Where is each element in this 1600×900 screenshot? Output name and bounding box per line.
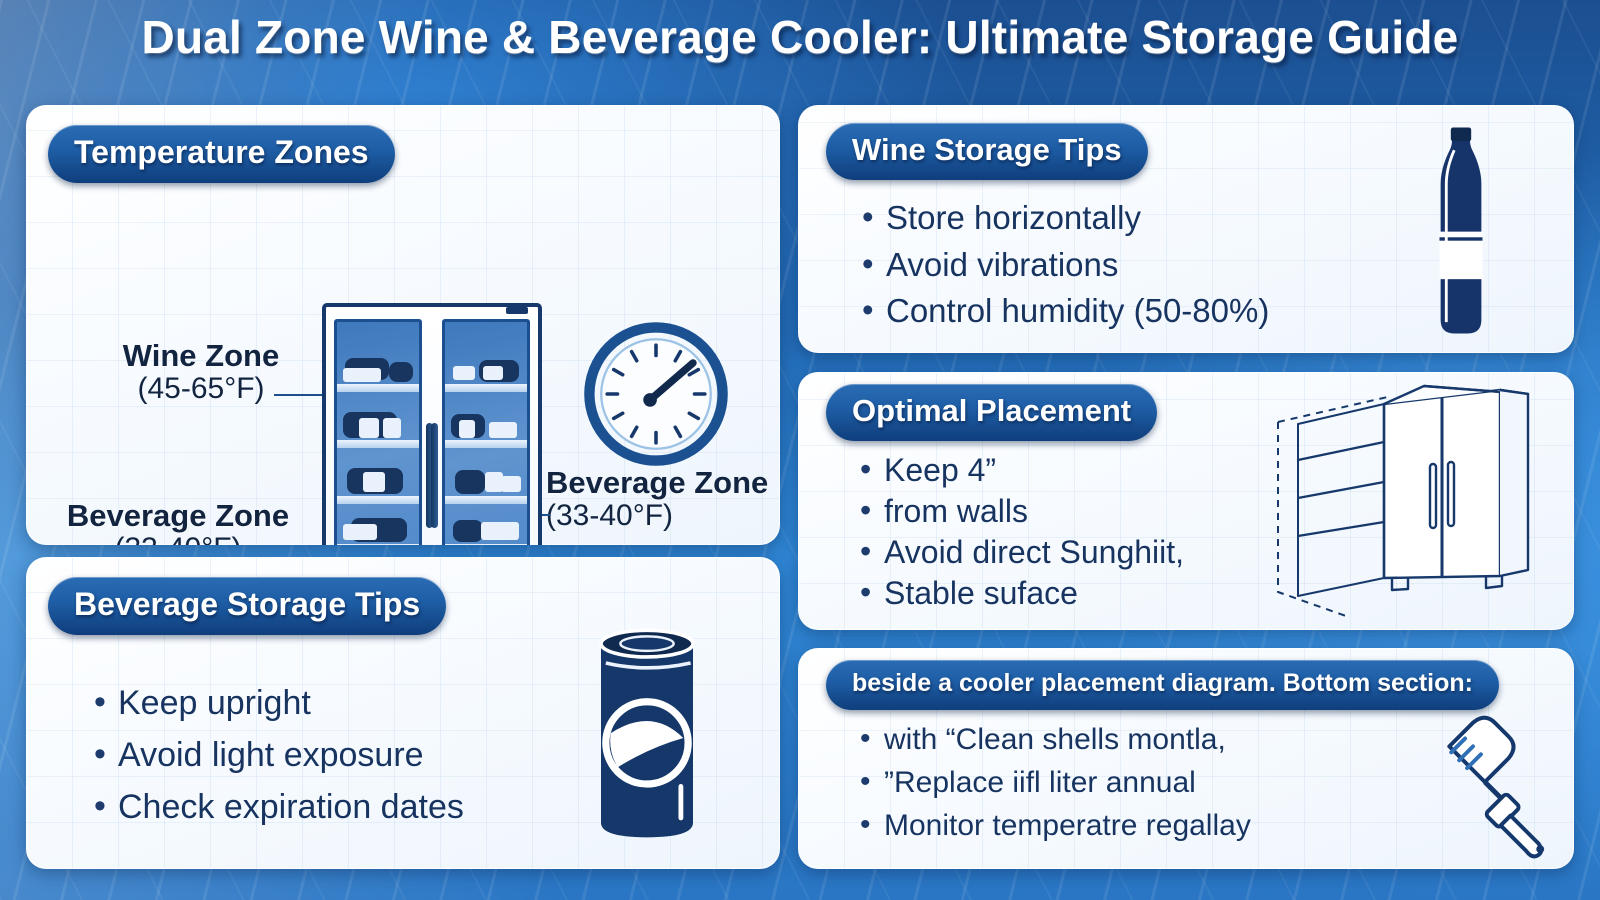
list-optimal-placement: Keep 4” from walls Avoid direct Sunghiit… <box>854 450 1184 614</box>
beverage-zone-range: (33-40°F) <box>38 533 318 545</box>
list-item: with “Clean shells montla, <box>854 718 1251 761</box>
heading-beverage-storage-tips: Beverage Storage Tips <box>48 577 446 635</box>
refrigerator-diagram-icon <box>1264 380 1554 625</box>
list-maintenance: with “Clean shells montla, ”Replace iifl… <box>854 718 1251 848</box>
beverage-zone-right-name: Beverage Zone <box>546 467 780 500</box>
heading-wine-storage-tips: Wine Storage Tips <box>826 123 1148 180</box>
list-item: Avoid vibrations <box>856 242 1269 289</box>
card-maintenance: beside a cooler placement diagram. Botto… <box>798 648 1574 869</box>
card-wine-storage-tips: Wine Storage Tips Store horizontally Avo… <box>798 105 1574 353</box>
list-item: Store horizontally <box>856 195 1269 242</box>
wine-bottle-icon <box>1406 123 1516 338</box>
infographic-poster: Dual Zone Wine & Beverage Cooler: Ultima… <box>0 0 1600 900</box>
card-temperature-zones: Temperature Zones Wine Zone (45-65°F) Be… <box>26 105 780 545</box>
cleaning-brush-icon <box>1390 700 1558 860</box>
list-item: Check expiration dates <box>88 781 464 833</box>
wine-zone-range: (45-65°F) <box>86 373 316 405</box>
soda-can-icon <box>586 617 708 847</box>
heading-optimal-placement: Optimal Placement <box>826 384 1157 441</box>
list-item: from walls <box>854 491 1184 532</box>
page-title: Dual Zone Wine & Beverage Cooler: Ultima… <box>0 10 1600 64</box>
wine-zone-name: Wine Zone <box>86 340 316 373</box>
list-item: Monitor temperatre regallay <box>854 804 1251 847</box>
label-beverage-zone-right: Beverage Zone (33-40°F) <box>546 467 780 532</box>
beverage-zone-right-range: (33-40°F) <box>546 500 780 532</box>
list-item: Avoid direct Sunghiit, <box>854 532 1184 573</box>
beverage-zone-name: Beverage Zone <box>38 500 318 533</box>
label-beverage-zone: Beverage Zone (33-40°F) <box>38 500 318 545</box>
list-beverage-storage-tips: Keep upright Avoid light exposure Check … <box>88 677 464 833</box>
list-item: ”Replace iifl liter annual <box>854 761 1251 804</box>
card-optimal-placement: Optimal Placement Keep 4” from walls Avo… <box>798 372 1574 630</box>
heading-temperature-zones: Temperature Zones <box>48 125 395 183</box>
list-item: Avoid light exposure <box>88 729 464 781</box>
card-beverage-storage-tips: Beverage Storage Tips Keep upright Avoid… <box>26 557 780 869</box>
thermometer-gauge-icon <box>582 320 730 468</box>
list-item: Control humidity (50-80%) <box>856 288 1269 335</box>
list-item: Keep 4” <box>854 450 1184 491</box>
list-item: Keep upright <box>88 677 464 729</box>
list-wine-storage-tips: Store horizontally Avoid vibrations Cont… <box>856 195 1269 335</box>
dual-door-cooler-icon <box>322 303 542 545</box>
list-item: Stable suface <box>854 573 1184 614</box>
